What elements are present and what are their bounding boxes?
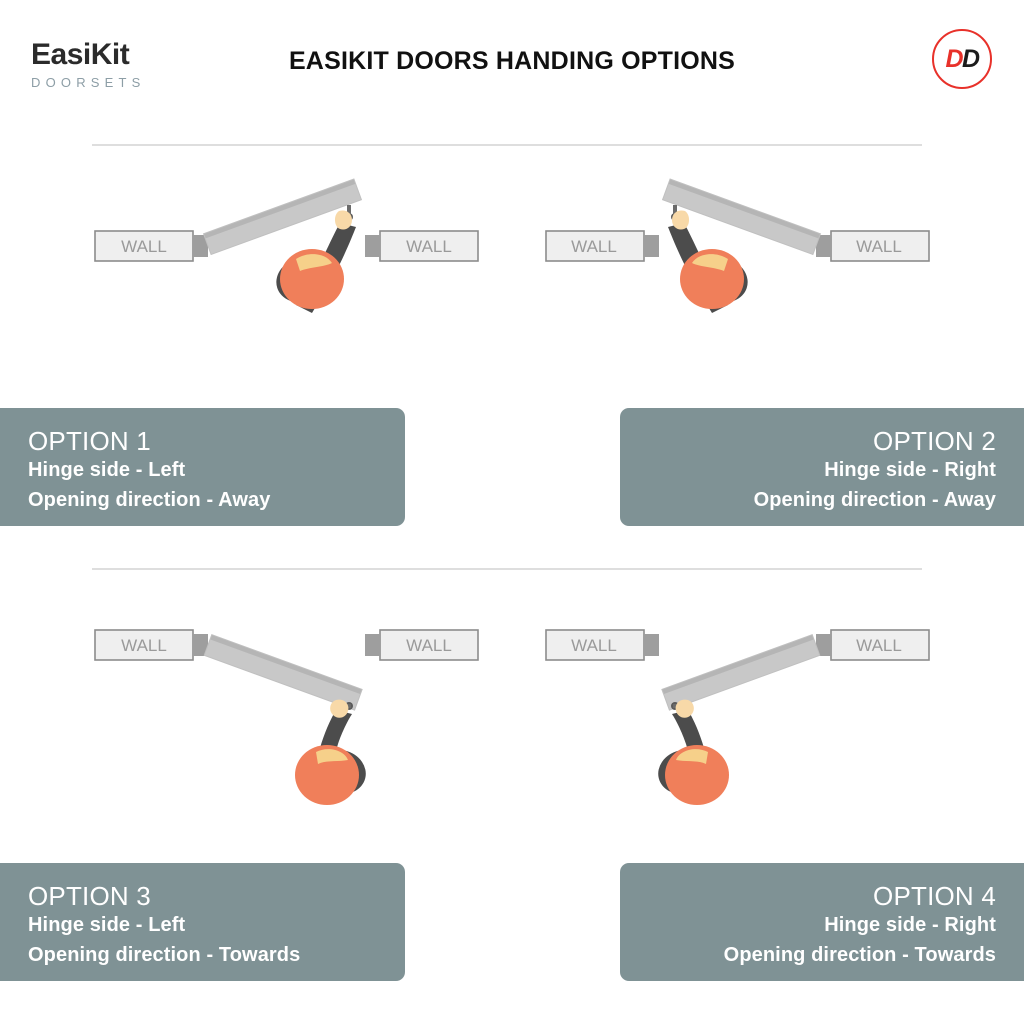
person-hand: [330, 700, 348, 718]
person-figure: [295, 700, 371, 805]
option-2-hinge-side: Hinge side - Right: [648, 456, 996, 486]
wall-left-label: WALL: [121, 636, 167, 655]
option-3-title: OPTION 3: [28, 881, 377, 911]
door-leaf: [204, 635, 362, 710]
door-leaf: [662, 635, 820, 710]
caption-option-3: OPTION 3 Hinge side - Left Opening direc…: [0, 863, 405, 981]
option-4-title: OPTION 4: [648, 881, 996, 911]
wall-right: WALL: [365, 630, 478, 660]
diagram-option-2: WALL WALL: [512, 175, 1024, 405]
person-hand: [676, 700, 694, 718]
caption-option-1: OPTION 1 Hinge side - Left Opening direc…: [0, 408, 405, 526]
page-title: EASIKIT DOORS HANDING OPTIONS: [0, 47, 1024, 76]
wall-right-label: WALL: [571, 237, 617, 256]
option-1-title: OPTION 1: [28, 426, 377, 456]
caption-option-2: OPTION 2 Hinge side - Right Opening dire…: [620, 408, 1024, 526]
wall-left-label: WALL: [121, 237, 167, 256]
diagram-option-4: WALL WALL: [512, 600, 1024, 830]
logo-tagline: DOORSETS: [31, 76, 201, 89]
dd-brand-badge-icon: DD: [932, 29, 992, 89]
option-2-title: OPTION 2: [648, 426, 996, 456]
person-hand: [672, 210, 689, 229]
wall-right-label: WALL: [406, 237, 452, 256]
option-4-opening-direction: Opening direction - Towards: [648, 941, 996, 971]
wall-right-label: WALL: [406, 636, 452, 655]
option-4-hinge-side: Hinge side - Right: [648, 911, 996, 941]
header: EasiKit DOORSETS EASIKIT DOORS HANDING O…: [0, 0, 1024, 118]
diagram-option-1: WALL WALL: [0, 175, 512, 405]
person-figure: [653, 700, 729, 805]
wall-left-label: WALL: [856, 636, 902, 655]
dd-letter-dark: D: [962, 45, 979, 73]
dd-letter-red: D: [945, 45, 962, 73]
option-3-opening-direction: Opening direction - Towards: [28, 941, 377, 971]
option-1-opening-direction: Opening direction - Away: [28, 486, 377, 516]
wall-left: WALL: [95, 231, 208, 261]
person-hand: [335, 210, 352, 229]
option-1-hinge-side: Hinge side - Left: [28, 456, 377, 486]
divider-top: [92, 144, 922, 146]
wall-right: WALL: [365, 231, 478, 261]
caption-option-4: OPTION 4 Hinge side - Right Opening dire…: [620, 863, 1024, 981]
dd-badge-text: DD: [945, 47, 978, 72]
option-2-opening-direction: Opening direction - Away: [648, 486, 996, 516]
infographic-page: EasiKit DOORSETS EASIKIT DOORS HANDING O…: [0, 0, 1024, 1024]
wall-right-label: WALL: [571, 636, 617, 655]
wall-left-label: WALL: [856, 237, 902, 256]
wall-left: WALL: [95, 630, 208, 660]
divider-middle: [92, 568, 922, 570]
diagram-option-3: WALL WALL: [0, 600, 512, 830]
option-3-hinge-side: Hinge side - Left: [28, 911, 377, 941]
